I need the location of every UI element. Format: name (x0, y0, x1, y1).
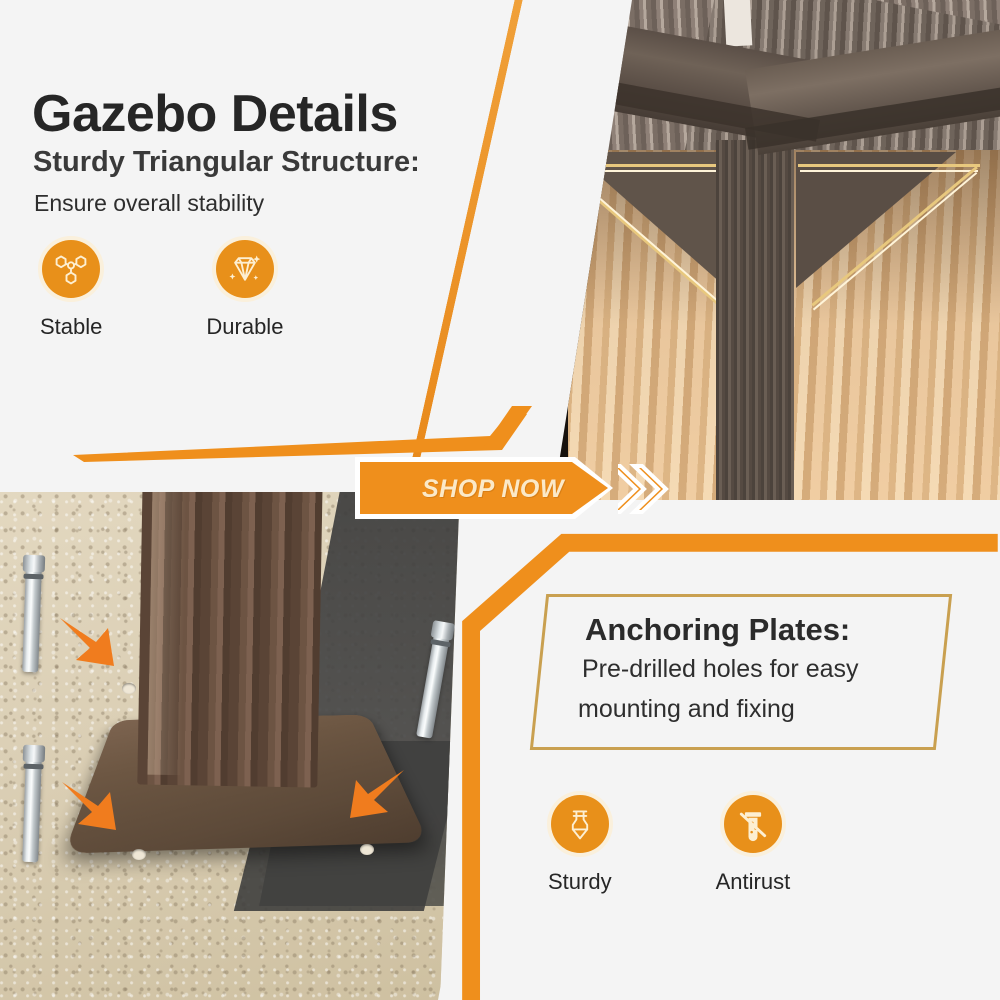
left-panel-subtitle: Sturdy Triangular Structure: (33, 146, 420, 179)
shop-now-label: SHOP NOW (422, 475, 564, 504)
bolt-washer (23, 764, 43, 770)
brace-gold-line (800, 170, 978, 172)
feature-label: Durable (206, 314, 283, 340)
diamond-sparkle-icon (216, 240, 274, 298)
bolt-head (431, 620, 456, 641)
right-panel-line1: Pre-drilled holes for easy (582, 655, 859, 684)
infographic-canvas: Gazebo Details Sturdy Triangular Structu… (0, 0, 1000, 1000)
anchoring-plates-panel (438, 500, 1000, 1000)
brace-gold-line (566, 170, 716, 172)
pre-drilled-hole (360, 844, 374, 855)
anchor-plate-photo (0, 486, 530, 1000)
feature-label: Antirust (716, 869, 791, 895)
right-feature-list: Sturdy Antirust (548, 795, 790, 895)
right-panel-title: Anchoring Plates: (585, 612, 850, 648)
annotation-arrow-icon (330, 764, 408, 842)
left-panel-description: Ensure overall stability (34, 190, 264, 217)
brace-gold-line (566, 164, 718, 167)
post-highlight (147, 486, 186, 775)
feature-label: Sturdy (548, 869, 612, 895)
bolt-washer (430, 639, 451, 647)
gazebo-white-post (724, 0, 753, 47)
annotation-arrow-icon (56, 612, 134, 690)
bolt-head (23, 745, 46, 763)
gazebo-corner-post (716, 140, 794, 520)
anchor-bolt-icon (551, 795, 609, 853)
double-chevron-right-icon[interactable] (618, 464, 674, 514)
feature-durable: Durable (206, 240, 283, 340)
feature-antirust: Antirust (716, 795, 791, 895)
left-feature-list: Stable Durable (40, 240, 283, 340)
annotation-arrow-icon (58, 776, 136, 854)
feature-stable: Stable (40, 240, 102, 340)
right-panel-line2: mounting and fixing (578, 695, 795, 724)
feature-label: Stable (40, 314, 102, 340)
gazebo-brace-right (796, 152, 956, 288)
bolt-head (23, 555, 46, 573)
shop-now-cta[interactable]: SHOP NOW (360, 462, 680, 522)
page-title: Gazebo Details (32, 84, 398, 144)
bolt-washer (23, 574, 43, 580)
gazebo-post (137, 486, 322, 788)
molecule-hexagon-icon (42, 240, 100, 298)
bolt-no-rust-icon (724, 795, 782, 853)
feature-sturdy: Sturdy (548, 795, 612, 895)
brace-gold-line (798, 164, 980, 167)
